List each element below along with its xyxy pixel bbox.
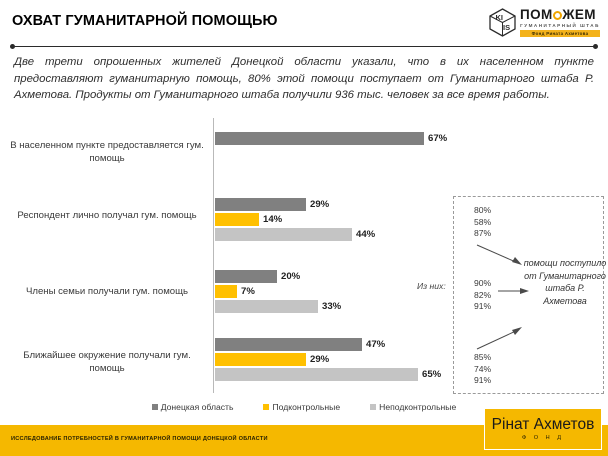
annotation-percent: 87% — [474, 228, 491, 240]
legend-label: Донецкая область — [161, 402, 234, 412]
bar-series-2 — [215, 300, 318, 313]
chart-group: В населенном пункте предоставляется гум.… — [0, 118, 608, 188]
legend-label: Подконтрольные — [272, 402, 340, 412]
brand-wordmark: ПОМЖЕМ — [520, 8, 600, 22]
brand-part-2: ЖЕМ — [562, 7, 596, 22]
category-label: В населенном пункте предоставляется гум.… — [8, 140, 206, 165]
legend-swatch-icon — [370, 404, 376, 410]
iz-nih-label: Из них: — [417, 281, 446, 291]
bar-series-0 — [215, 198, 306, 211]
svg-text:KI: KI — [496, 13, 504, 22]
header-separator — [10, 44, 598, 49]
bar-value-label: 47% — [366, 338, 385, 351]
bar-series-1 — [215, 353, 306, 366]
svg-text:IS: IS — [503, 23, 510, 32]
arrow-up-icon — [476, 243, 524, 267]
annotation-percent: 82% — [474, 290, 491, 302]
page-header: ОХВАТ ГУМАНИТАРНОЙ ПОМОЩЬЮ KI IS ПОМЖЕМ … — [0, 0, 608, 46]
bar-series-0 — [215, 270, 277, 283]
category-label: Респондент лично получал гум. помощь — [8, 210, 206, 223]
footer-logo-subtitle: Ф О Н Д — [522, 434, 564, 443]
bar-value-label: 20% — [281, 270, 300, 283]
bar-value-label: 7% — [241, 285, 255, 298]
bar-value-label: 67% — [428, 132, 447, 145]
bar-value-label: 65% — [422, 368, 441, 381]
legend-label: Неподконтрольные — [379, 402, 456, 412]
category-label: Ближайшее окружение получали гум. помощь — [8, 350, 206, 375]
kiis-cube-icon: KI IS — [489, 8, 516, 37]
ring-icon — [553, 11, 562, 20]
annotation-percent-group-0: 80% 58% 87% — [474, 205, 491, 240]
bar-series-1 — [215, 285, 237, 298]
bar-series-1 — [215, 213, 259, 226]
footer-text: ИССЛЕДОВАНИЕ ПОТРЕБНОСТЕЙ В ГУМАНИТАРНОЙ… — [11, 436, 268, 442]
rinat-akhmetov-fund-logo: Рінат Ахметов Ф О Н Д — [484, 408, 602, 450]
bar-value-label: 14% — [263, 213, 282, 226]
arrow-down-icon — [476, 325, 524, 351]
legend-item-donetsk: Донецкая область — [152, 402, 234, 412]
annotation-percent-group-1: 90% 82% 91% — [474, 278, 491, 313]
annotation-percent: 74% — [474, 364, 491, 376]
separator-line — [13, 46, 595, 47]
category-label: Члены семьи получали гум. помощь — [8, 286, 206, 299]
brand-subtitle: ГУМАНИТАРНЫЙ ШТАБ — [520, 22, 600, 29]
bar-value-label: 29% — [310, 198, 329, 211]
legend-swatch-icon — [263, 404, 269, 410]
page-footer: ИССЛЕДОВАНИЕ ПОТРЕБНОСТЕЙ В ГУМАНИТАРНОЙ… — [0, 425, 608, 456]
annotation-text: помощи поступило от Гуманитарного штаба … — [523, 257, 607, 307]
annotation-percent: 91% — [474, 301, 491, 313]
intro-paragraph: Две трети опрошенных жителей Донецкой об… — [14, 54, 594, 104]
brand-fond-bar: Фонд Рината Ахметова — [520, 30, 600, 37]
legend-swatch-icon — [152, 404, 158, 410]
legend-item-controlled: Подконтрольные — [263, 402, 340, 412]
page-title: ОХВАТ ГУМАНИТАРНОЙ ПОМОЩЬЮ — [12, 13, 278, 29]
annotation-percent-group-2: 85% 74% 91% — [474, 352, 491, 387]
bar-value-label: 33% — [322, 300, 341, 313]
annotation-percent: 58% — [474, 217, 491, 229]
bar-series-0 — [215, 338, 362, 351]
bar-series-2 — [215, 228, 352, 241]
annotation-percent: 85% — [474, 352, 491, 364]
bar-series-0 — [215, 132, 424, 145]
bar-series-2 — [215, 368, 418, 381]
annotation-percent: 90% — [474, 278, 491, 290]
bar-value-label: 44% — [356, 228, 375, 241]
brand-part-1: ПОМ — [520, 7, 553, 22]
bar-value-label: 29% — [310, 353, 329, 366]
footer-logo-name: Рінат Ахметов — [492, 416, 595, 434]
legend-item-uncontrolled: Неподконтрольные — [370, 402, 456, 412]
annotation-percent: 91% — [474, 375, 491, 387]
separator-dot-right — [593, 44, 598, 49]
annotation-percent: 80% — [474, 205, 491, 217]
pomozhem-logo: KI IS ПОМЖЕМ ГУМАНИТАРНЫЙ ШТАБ Фонд Рина… — [489, 4, 600, 40]
